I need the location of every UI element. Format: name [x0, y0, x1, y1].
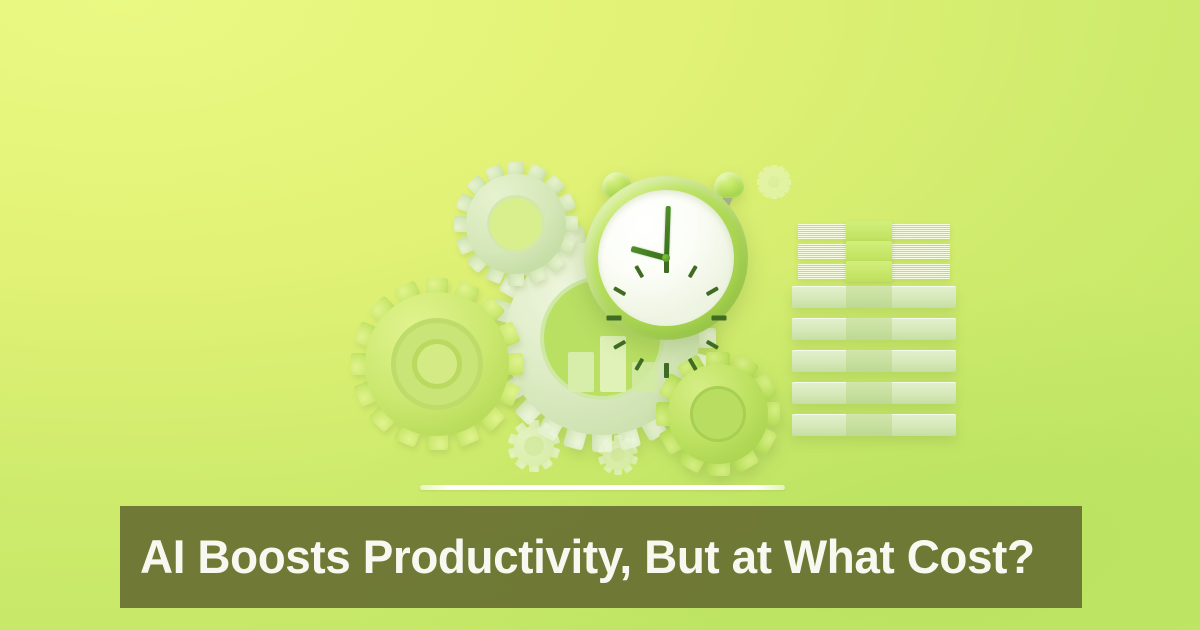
clock-tick-10 — [613, 286, 626, 296]
bundle-band — [846, 382, 892, 404]
bundle-band — [846, 414, 892, 436]
bundle-band — [846, 318, 892, 340]
bundle-band — [846, 350, 892, 372]
divider — [420, 485, 785, 490]
clock-tick-6 — [664, 363, 669, 378]
gear-small-top-right — [757, 165, 791, 199]
clock-tick-11 — [634, 265, 644, 278]
gear-left-large — [351, 278, 523, 450]
note-bundle-thin-1 — [798, 224, 950, 239]
gear-small-bottom-mid — [598, 435, 639, 475]
clock-tick-9 — [606, 316, 621, 321]
gear-top-left — [454, 162, 578, 286]
clock-center-pin — [662, 254, 670, 262]
hero-banner: AI Boosts Productivity, But at What Cost… — [0, 0, 1200, 630]
clock-tick-3 — [711, 316, 726, 321]
page-title: AI Boosts Productivity, But at What Cost… — [140, 533, 1035, 581]
cash-bundle-3 — [792, 350, 956, 372]
note-band — [846, 241, 892, 262]
cash-bundle-2 — [792, 318, 956, 340]
gear-small-bottom-left — [508, 420, 561, 472]
cash-bundle-5 — [792, 414, 956, 436]
alarm-clock — [584, 176, 748, 340]
note-band — [846, 261, 892, 282]
cash-bundle-4 — [792, 382, 956, 404]
note-bundle-thin-3 — [798, 264, 950, 279]
note-bundle-thin-2 — [798, 244, 950, 259]
cash-bundle-1 — [792, 286, 956, 308]
bundle-band — [846, 286, 892, 308]
clock-minute-hand — [664, 206, 671, 258]
note-band — [846, 221, 892, 242]
banknote-stack — [792, 224, 968, 450]
title-bar: AI Boosts Productivity, But at What Cost… — [120, 506, 1082, 608]
clock-tick-1 — [688, 265, 698, 278]
clock-face — [598, 190, 734, 326]
clock-tick-2 — [706, 286, 719, 296]
